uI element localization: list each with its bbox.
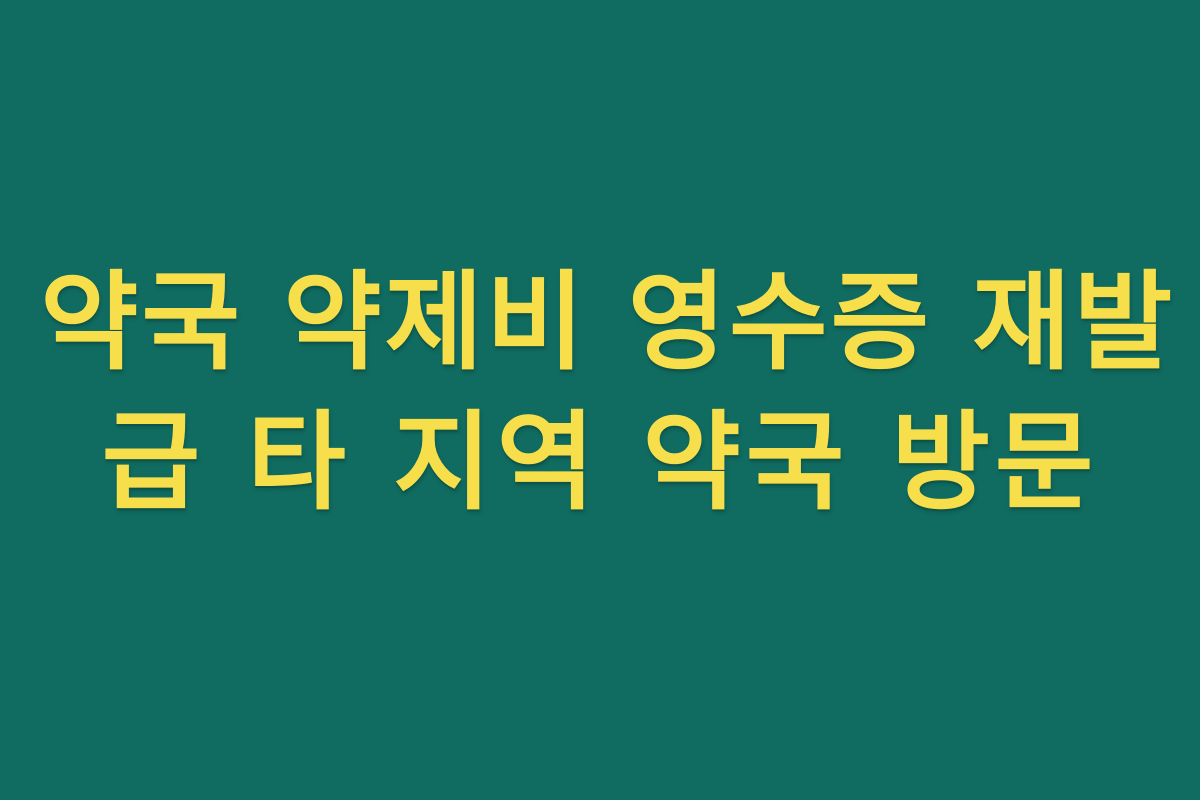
headline-block: 약국 약제비 영수증 재발 급 타 지역 약국 방문 <box>40 253 1160 533</box>
headline-line-1: 약국 약제비 영수증 재발 <box>40 253 1160 393</box>
banner-canvas: 약국 약제비 영수증 재발 급 타 지역 약국 방문 <box>0 0 1200 800</box>
headline-line-2: 급 타 지역 약국 방문 <box>40 393 1160 533</box>
